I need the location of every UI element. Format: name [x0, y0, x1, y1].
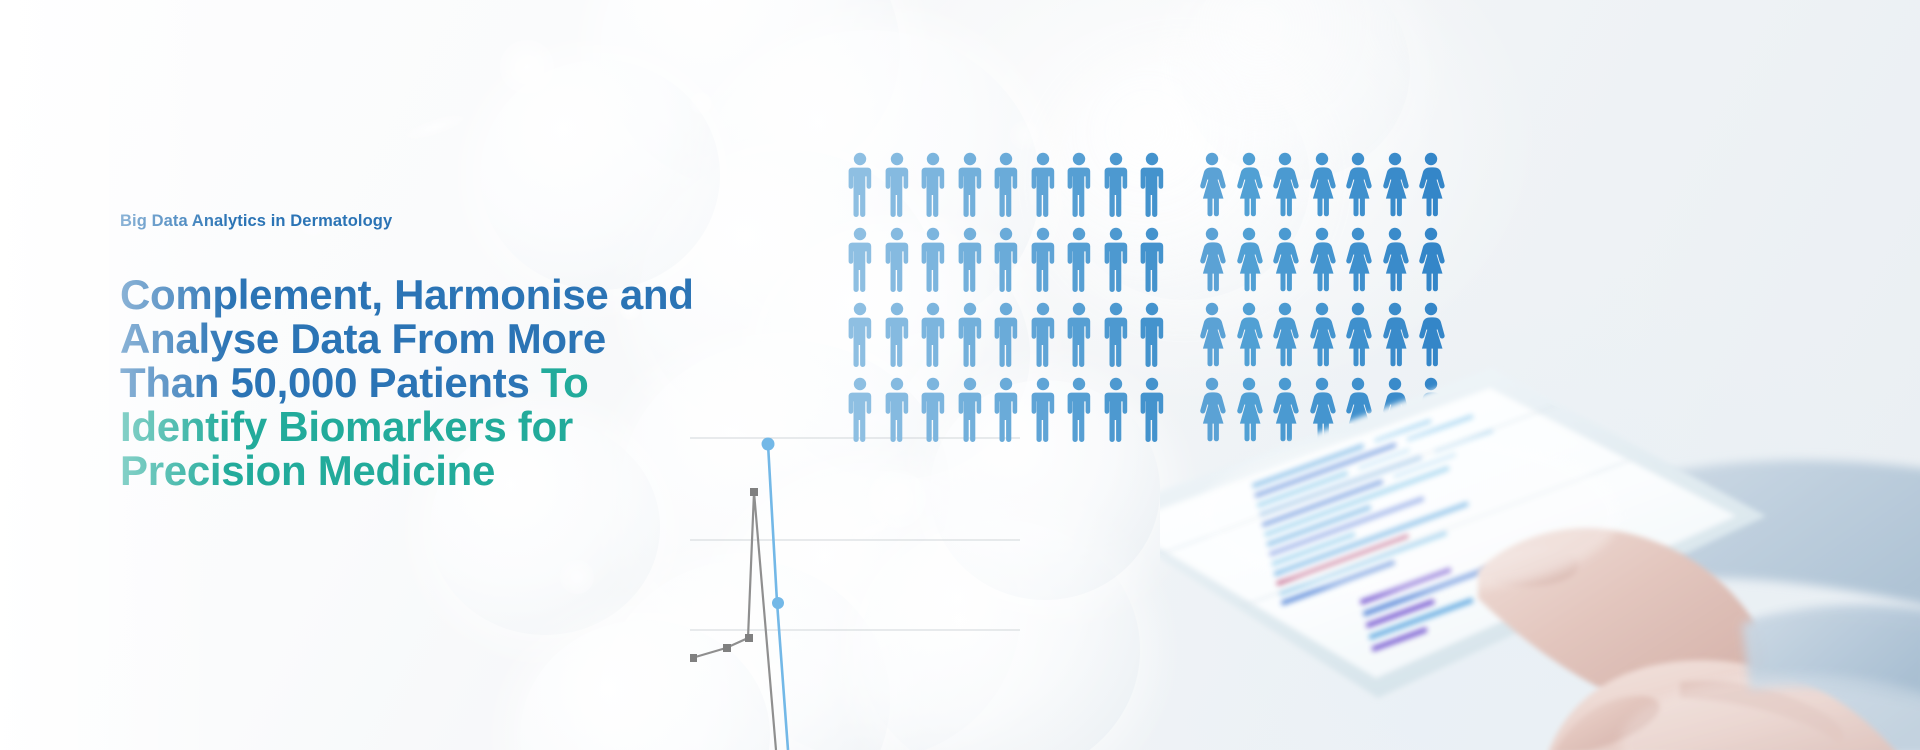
- person-icon-male: [992, 152, 1020, 217]
- pictogram-figure: [846, 227, 874, 292]
- pictogram-row: [846, 302, 1166, 367]
- person-icon-male: [1102, 377, 1130, 442]
- person-icon-male: [883, 152, 911, 217]
- pictogram-figure: [883, 302, 911, 367]
- pictogram-figure: [1138, 302, 1166, 367]
- person-icon-female: [1381, 152, 1409, 217]
- person-icon-male: [992, 377, 1020, 442]
- headline-line-3: Than 50,000 Patients: [120, 359, 541, 406]
- pictogram-figure: [846, 302, 874, 367]
- pictogram-figure: [1381, 152, 1409, 217]
- pictogram-figure: [919, 152, 947, 217]
- pictogram-figure: [1102, 152, 1130, 217]
- person-icon-male: [956, 302, 984, 367]
- person-icon-female: [1235, 302, 1263, 367]
- person-icon-male: [1029, 302, 1057, 367]
- pictogram-figure: [1138, 152, 1166, 217]
- person-icon-male: [956, 152, 984, 217]
- pictogram-figure: [956, 152, 984, 217]
- pictogram-row: [1198, 152, 1445, 217]
- pictogram-figure: [1029, 302, 1057, 367]
- pictogram-group-male: [846, 152, 1166, 442]
- person-icon-male: [1065, 302, 1093, 367]
- pictogram-figure: [1308, 152, 1336, 217]
- page-title: Complement, Harmonise and Analyse Data F…: [120, 273, 720, 492]
- person-icon-female: [1271, 302, 1299, 367]
- person-icon-male: [992, 227, 1020, 292]
- pictogram-row: [846, 152, 1166, 217]
- headline-line-4: Identify Biomarkers for: [120, 403, 573, 450]
- pictogram-figure: [1235, 152, 1263, 217]
- pictogram-figure: [1381, 227, 1409, 292]
- pictogram-figure: [1417, 152, 1445, 217]
- pictogram-row: [846, 227, 1166, 292]
- person-icon-female: [1417, 152, 1445, 217]
- person-icon-male: [1029, 377, 1057, 442]
- person-icon-male: [1138, 227, 1166, 292]
- pictogram-figure: [1308, 302, 1336, 367]
- pictogram-figure: [956, 377, 984, 442]
- pictogram-figure: [1029, 152, 1057, 217]
- pictogram-figure: [1271, 152, 1299, 217]
- person-icon-male: [1029, 152, 1057, 217]
- person-icon-male: [846, 302, 874, 367]
- pictogram-figure: [883, 377, 911, 442]
- pictogram-figure: [992, 152, 1020, 217]
- person-icon-male: [883, 227, 911, 292]
- person-icon-male: [1138, 152, 1166, 217]
- person-icon-female: [1198, 302, 1226, 367]
- person-icon-female: [1235, 152, 1263, 217]
- pictogram-figure: [992, 377, 1020, 442]
- pictogram-figure: [1065, 377, 1093, 442]
- person-icon-female: [1381, 227, 1409, 292]
- person-icon-male: [956, 227, 984, 292]
- person-icon-female: [1271, 227, 1299, 292]
- person-icon-male: [846, 377, 874, 442]
- person-icon-male: [883, 377, 911, 442]
- person-icon-male: [1029, 227, 1057, 292]
- pictogram-row: [1198, 227, 1445, 292]
- person-icon-female: [1417, 302, 1445, 367]
- person-icon-female: [1344, 227, 1372, 292]
- person-icon-female: [1308, 227, 1336, 292]
- person-icon-male: [846, 227, 874, 292]
- person-icon-male: [846, 152, 874, 217]
- pictogram-figure: [1102, 302, 1130, 367]
- pictogram-figure: [919, 377, 947, 442]
- person-icon-male: [1138, 302, 1166, 367]
- pictogram-figure: [1102, 227, 1130, 292]
- person-icon-female: [1308, 152, 1336, 217]
- hero-banner: Big Data Analytics in Dermatology Comple…: [0, 0, 1920, 750]
- pictogram-figure: [1198, 302, 1226, 367]
- person-icon-female: [1381, 302, 1409, 367]
- person-icon-male: [1102, 152, 1130, 217]
- pictogram-figure: [992, 227, 1020, 292]
- pictogram-figure: [1417, 302, 1445, 367]
- pictogram-figure: [1235, 227, 1263, 292]
- pictogram-figure: [1308, 227, 1336, 292]
- person-icon-male: [1102, 227, 1130, 292]
- headline-line-5: Precision Medicine: [120, 447, 495, 494]
- pictogram-figure: [1029, 227, 1057, 292]
- pictogram-figure: [956, 227, 984, 292]
- person-icon-male: [919, 377, 947, 442]
- person-icon-female: [1198, 152, 1226, 217]
- pictogram-figure: [1198, 152, 1226, 217]
- pictogram-figure: [1271, 227, 1299, 292]
- hero-copy: Big Data Analytics in Dermatology Comple…: [120, 212, 720, 492]
- pictogram-figure: [1417, 227, 1445, 292]
- pictogram-figure: [1029, 377, 1057, 442]
- pictogram-figure: [1344, 227, 1372, 292]
- background-line-chart: [690, 400, 1020, 750]
- pictogram-figure: [1381, 302, 1409, 367]
- person-icon-male: [919, 227, 947, 292]
- pictogram-row: [846, 377, 1166, 442]
- pictogram-figure: [956, 302, 984, 367]
- person-icon-female: [1344, 302, 1372, 367]
- pictogram-figure: [992, 302, 1020, 367]
- headline-line-2: Analyse Data From More: [120, 315, 606, 362]
- pictogram-figure: [1344, 152, 1372, 217]
- pictogram-figure: [1271, 302, 1299, 367]
- person-icon-male: [883, 302, 911, 367]
- pictogram-figure: [1065, 227, 1093, 292]
- person-icon-male: [956, 377, 984, 442]
- person-icon-male: [1065, 152, 1093, 217]
- person-icon-male: [1065, 227, 1093, 292]
- person-icon-male: [919, 302, 947, 367]
- tablet-in-hands-image: [1160, 364, 1920, 750]
- pictogram-figure: [883, 152, 911, 217]
- person-icon-female: [1308, 302, 1336, 367]
- pictogram-figure: [919, 302, 947, 367]
- pictogram-figure: [1235, 302, 1263, 367]
- pictogram-figure: [1065, 152, 1093, 217]
- person-icon-female: [1235, 227, 1263, 292]
- person-icon-male: [1065, 377, 1093, 442]
- pictogram-figure: [1138, 227, 1166, 292]
- person-icon-male: [1102, 302, 1130, 367]
- person-icon-female: [1198, 227, 1226, 292]
- pictogram-figure: [846, 152, 874, 217]
- person-icon-male: [919, 152, 947, 217]
- pictogram-figure: [919, 227, 947, 292]
- pictogram-row: [1198, 302, 1445, 367]
- person-icon-female: [1271, 152, 1299, 217]
- person-icon-male: [992, 302, 1020, 367]
- pictogram-figure: [1344, 302, 1372, 367]
- pictogram-figure: [1102, 377, 1130, 442]
- pictogram-figure: [1065, 302, 1093, 367]
- headline-line-1: Complement, Harmonise and: [120, 271, 694, 318]
- headline-line-3-tail: To: [541, 359, 589, 406]
- person-icon-female: [1344, 152, 1372, 217]
- person-icon-female: [1417, 227, 1445, 292]
- pictogram-figure: [1198, 227, 1226, 292]
- pictogram-figure: [846, 377, 874, 442]
- eyebrow-label: Big Data Analytics in Dermatology: [120, 212, 720, 231]
- pictogram-figure: [883, 227, 911, 292]
